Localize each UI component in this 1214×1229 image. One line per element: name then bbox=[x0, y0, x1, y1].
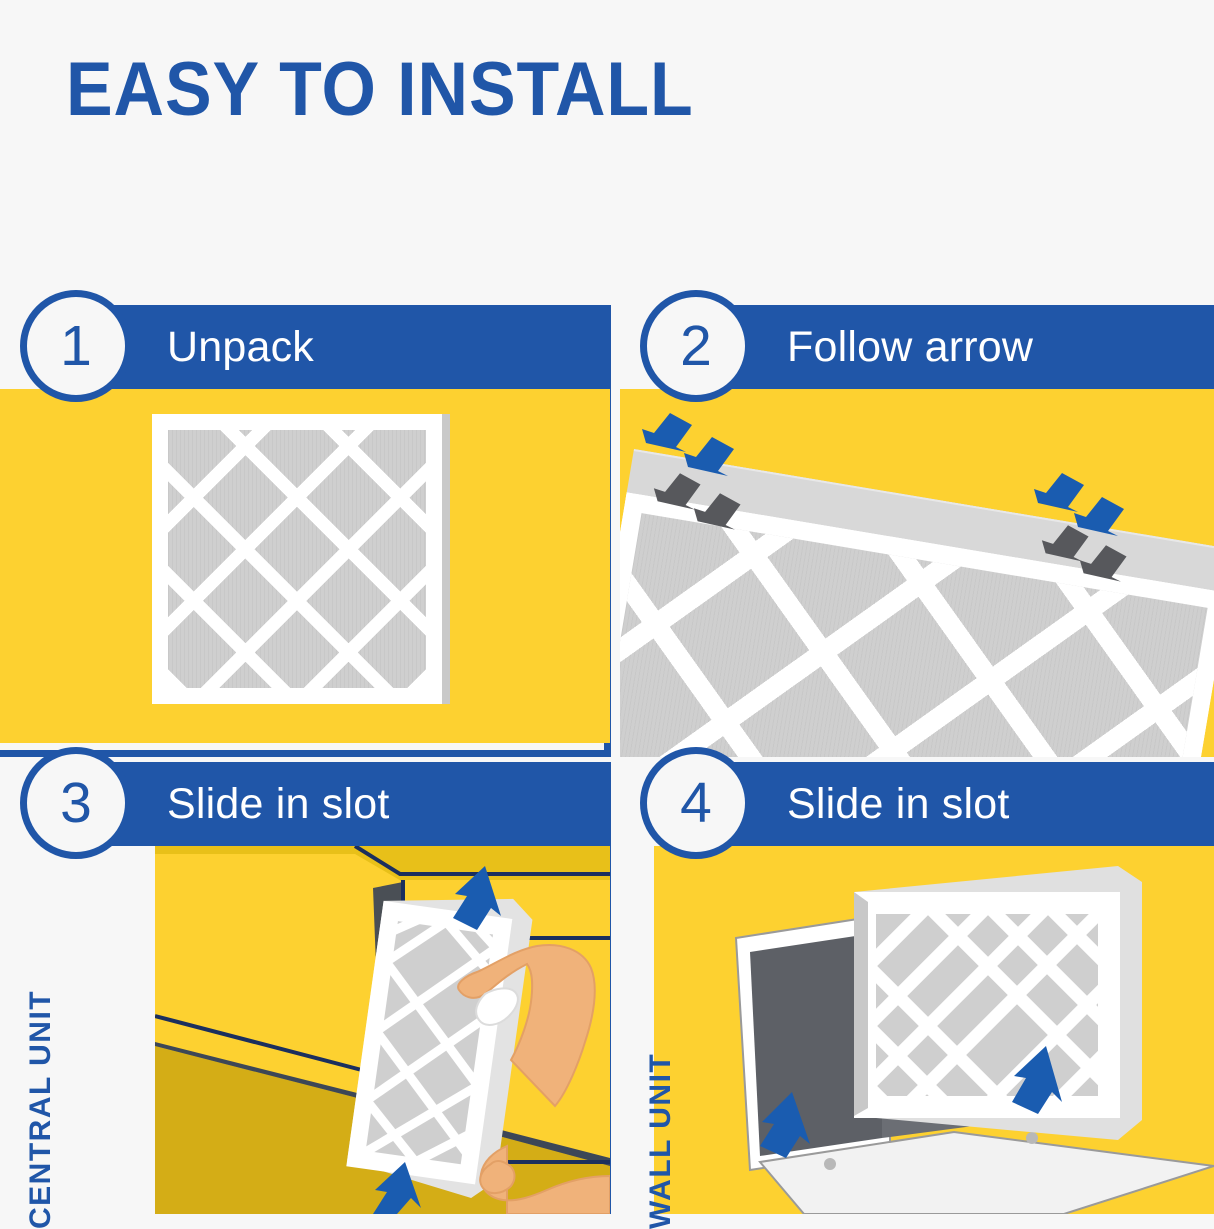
step-4-number-badge: 4 bbox=[640, 747, 752, 859]
filter-mesh bbox=[168, 430, 426, 688]
step-panel-3: Slide in slot 3 bbox=[0, 762, 610, 1214]
step-4-header: Slide in slot bbox=[672, 762, 1214, 846]
step-1-illustration-area bbox=[0, 389, 610, 743]
step-2-number-badge: 2 bbox=[640, 290, 752, 402]
step-2-header: Follow arrow bbox=[672, 305, 1214, 389]
air-filter-flat bbox=[152, 414, 442, 704]
side-label-central-unit: CENTRAL UNIT bbox=[24, 990, 58, 1229]
side-label-wall-unit: WALL UNIT bbox=[644, 1053, 678, 1229]
page-title: EASY TO INSTALL bbox=[66, 52, 694, 128]
step-1-number-badge: 1 bbox=[20, 290, 132, 402]
step-4-label: Slide in slot bbox=[787, 780, 1010, 829]
step-panel-2: Follow arrow 2 bbox=[620, 305, 1214, 757]
step-2-label: Follow arrow bbox=[787, 323, 1033, 372]
step-3-header: Slide in slot bbox=[52, 762, 610, 846]
step-4-illustration-area bbox=[654, 846, 1214, 1214]
step-panel-1: Unpack 1 bbox=[0, 305, 610, 757]
step-panel-4: Slide in slot 4 bbox=[620, 762, 1214, 1214]
step-3-illustration-area bbox=[155, 846, 610, 1214]
step-3-number-badge: 3 bbox=[20, 747, 132, 859]
wall-unit-scene bbox=[654, 846, 1214, 1214]
printed-arrow-dark-4 bbox=[1078, 541, 1134, 585]
central-unit-scene bbox=[155, 846, 610, 1214]
printed-arrow-dark-2 bbox=[692, 489, 748, 533]
step-1-label: Unpack bbox=[167, 323, 314, 372]
step-3-label: Slide in slot bbox=[167, 780, 390, 829]
step-1-header: Unpack bbox=[52, 305, 610, 389]
step-2-illustration-area bbox=[620, 389, 1214, 757]
